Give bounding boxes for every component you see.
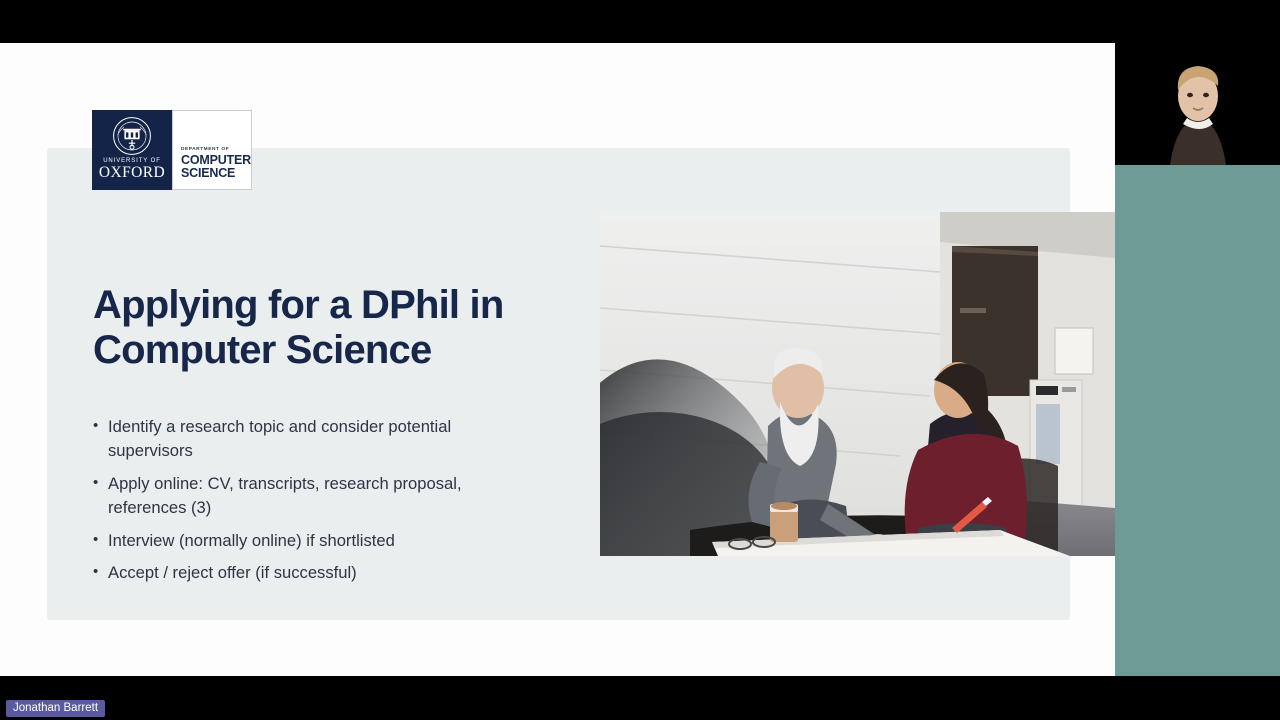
slide-title-line-1: Applying for a DPhil in	[93, 283, 613, 328]
side-panel	[1115, 165, 1280, 720]
bullet-marker-icon: •	[93, 561, 108, 585]
bullet-text: Interview (normally online) if shortlist…	[108, 529, 538, 553]
slide-title: Applying for a DPhil in Computer Science	[93, 283, 613, 373]
department-line-2: SCIENCE	[181, 167, 235, 180]
computer-science-department-logo: DEPARTMENT OF COMPUTER SCIENCE	[172, 110, 252, 190]
oxford-logo-line-2: OXFORD	[99, 165, 165, 181]
bullet-text: Identify a research topic and consider p…	[108, 415, 538, 463]
bullet-marker-icon: •	[93, 529, 108, 553]
list-item: • Identify a research topic and consider…	[93, 415, 538, 463]
participant-video-feed	[1115, 0, 1280, 165]
letterbox-bar-bottom	[0, 676, 1280, 720]
speaker-name-badge: Jonathan Barrett	[6, 700, 105, 717]
oxford-university-logo: UNIVERSITY OF OXFORD	[92, 110, 172, 190]
oxford-crest-icon	[112, 116, 152, 156]
list-item: • Apply online: CV, transcripts, researc…	[93, 472, 538, 520]
list-item: • Accept / reject offer (if successful)	[93, 561, 538, 585]
slide-photo	[600, 212, 1115, 556]
department-eyebrow: DEPARTMENT OF	[181, 147, 229, 152]
bullet-marker-icon: •	[93, 472, 108, 520]
slide-bullet-list: • Identify a research topic and consider…	[93, 415, 538, 594]
letterbox-bar-top	[0, 0, 1280, 43]
slide-title-line-2: Computer Science	[93, 328, 613, 373]
logo-lockup: UNIVERSITY OF OXFORD DEPARTMENT OF COMPU…	[92, 110, 252, 190]
bullet-marker-icon: •	[93, 415, 108, 463]
presentation-slide: UNIVERSITY OF OXFORD DEPARTMENT OF COMPU…	[47, 148, 1070, 620]
department-line-1: COMPUTER	[181, 154, 251, 167]
bullet-text: Accept / reject offer (if successful)	[108, 561, 538, 585]
self-view-camera-tile[interactable]	[1115, 0, 1280, 165]
screen-share-stage[interactable]: UNIVERSITY OF OXFORD DEPARTMENT OF COMPU…	[0, 43, 1115, 676]
list-item: • Interview (normally online) if shortli…	[93, 529, 538, 553]
bullet-text: Apply online: CV, transcripts, research …	[108, 472, 538, 520]
common-room-photo-illustration	[600, 212, 1115, 556]
video-call-window: UNIVERSITY OF OXFORD DEPARTMENT OF COMPU…	[0, 0, 1280, 720]
